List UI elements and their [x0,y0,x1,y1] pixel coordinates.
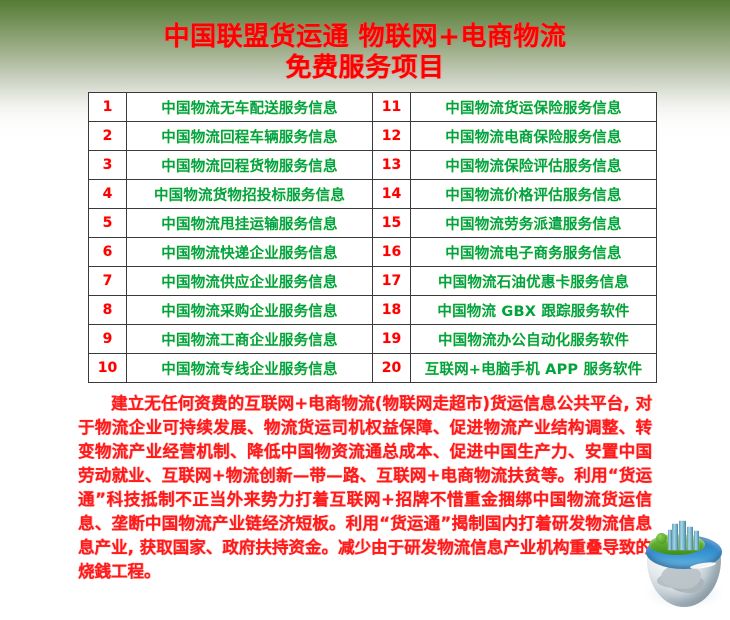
service-item-right: 中国物流劳务派遣服务信息 [411,209,657,238]
title-line-primary: 中国联盟货运通 物联网+电商物流 [0,22,730,53]
table-row: 2中国物流回程车辆服务信息12中国物流电商保险服务信息 [89,122,657,151]
row-number-left: 8 [89,296,127,325]
service-item-right: 中国物流价格评估服务信息 [411,180,657,209]
service-list-table: 1中国物流无车配送服务信息11中国物流货运保险服务信息2中国物流回程车辆服务信息… [88,92,657,383]
service-item-left: 中国物流回程货物服务信息 [127,151,373,180]
table-row: 9中国物流工商企业服务信息19中国物流办公自动化服务软件 [89,325,657,354]
row-number-left: 1 [89,93,127,122]
row-number-left: 9 [89,325,127,354]
table-row: 7中国物流供应企业服务信息17中国物流石油优惠卡服务信息 [89,267,657,296]
row-number-right: 17 [373,267,411,296]
service-item-left: 中国物流快递企业服务信息 [127,238,373,267]
table-row: 4中国物流货物招投标服务信息14中国物流价格评估服务信息 [89,180,657,209]
service-item-left: 中国物流专线企业服务信息 [127,354,373,383]
service-item-right: 中国物流电商保险服务信息 [411,122,657,151]
table-row: 8中国物流采购企业服务信息18中国物流 GBX 跟踪服务软件 [89,296,657,325]
service-item-left: 中国物流供应企业服务信息 [127,267,373,296]
table-row: 6中国物流快递企业服务信息16中国物流电子商务服务信息 [89,238,657,267]
service-item-left: 中国物流无车配送服务信息 [127,93,373,122]
service-item-left: 中国物流回程车辆服务信息 [127,122,373,151]
row-number-left: 10 [89,354,127,383]
table-row: 1中国物流无车配送服务信息11中国物流货运保险服务信息 [89,93,657,122]
row-number-left: 4 [89,180,127,209]
service-item-right: 互联网+电脑手机 APP 服务软件 [411,354,657,383]
service-item-right: 中国物流货运保险服务信息 [411,93,657,122]
globe-skyscraper-1 [672,523,678,550]
service-item-right: 中国物流保险评估服务信息 [411,151,657,180]
globe-skyscraper-2 [679,520,686,550]
row-number-right: 15 [373,209,411,238]
table-row: 3中国物流回程货物服务信息13中国物流保险评估服务信息 [89,151,657,180]
row-number-right: 14 [373,180,411,209]
service-list-body: 1中国物流无车配送服务信息11中国物流货运保险服务信息2中国物流回程车辆服务信息… [89,93,657,383]
service-item-right: 中国物流石油优惠卡服务信息 [411,267,657,296]
row-number-left: 5 [89,209,127,238]
service-item-right: 中国物流 GBX 跟踪服务软件 [411,296,657,325]
eco-city-globe-icon [641,521,727,613]
row-number-left: 2 [89,122,127,151]
row-number-right: 13 [373,151,411,180]
slide-canvas: 中国联盟货运通 物联网+电商物流 免费服务项目 1中国物流无车配送服务信息11中… [0,0,730,620]
table-row: 10中国物流专线企业服务信息20互联网+电脑手机 APP 服务软件 [89,354,657,383]
row-number-right: 12 [373,122,411,151]
title-line-secondary: 免费服务项目 [0,53,730,84]
row-number-left: 3 [89,151,127,180]
globe-skyscraper-3 [687,526,693,550]
row-number-left: 6 [89,238,127,267]
description-paragraph: 建立无任何资费的互联网+电商物流(物联网走超市)货运信息公共平台, 对于物流企业… [78,392,652,584]
row-number-right: 16 [373,238,411,267]
service-item-right: 中国物流办公自动化服务软件 [411,325,657,354]
service-item-right: 中国物流电子商务服务信息 [411,238,657,267]
row-number-right: 18 [373,296,411,325]
page-title: 中国联盟货运通 物联网+电商物流 免费服务项目 [0,22,730,83]
service-item-left: 中国物流采购企业服务信息 [127,296,373,325]
service-item-left: 中国物流货物招投标服务信息 [127,180,373,209]
row-number-left: 7 [89,267,127,296]
service-item-left: 中国物流工商企业服务信息 [127,325,373,354]
row-number-right: 20 [373,354,411,383]
table-row: 5中国物流甩挂运输服务信息15中国物流劳务派遣服务信息 [89,209,657,238]
globe-skyscraper-4 [694,530,699,550]
service-item-left: 中国物流甩挂运输服务信息 [127,209,373,238]
globe-skyscraper-5 [668,529,672,550]
row-number-right: 11 [373,93,411,122]
row-number-right: 19 [373,325,411,354]
